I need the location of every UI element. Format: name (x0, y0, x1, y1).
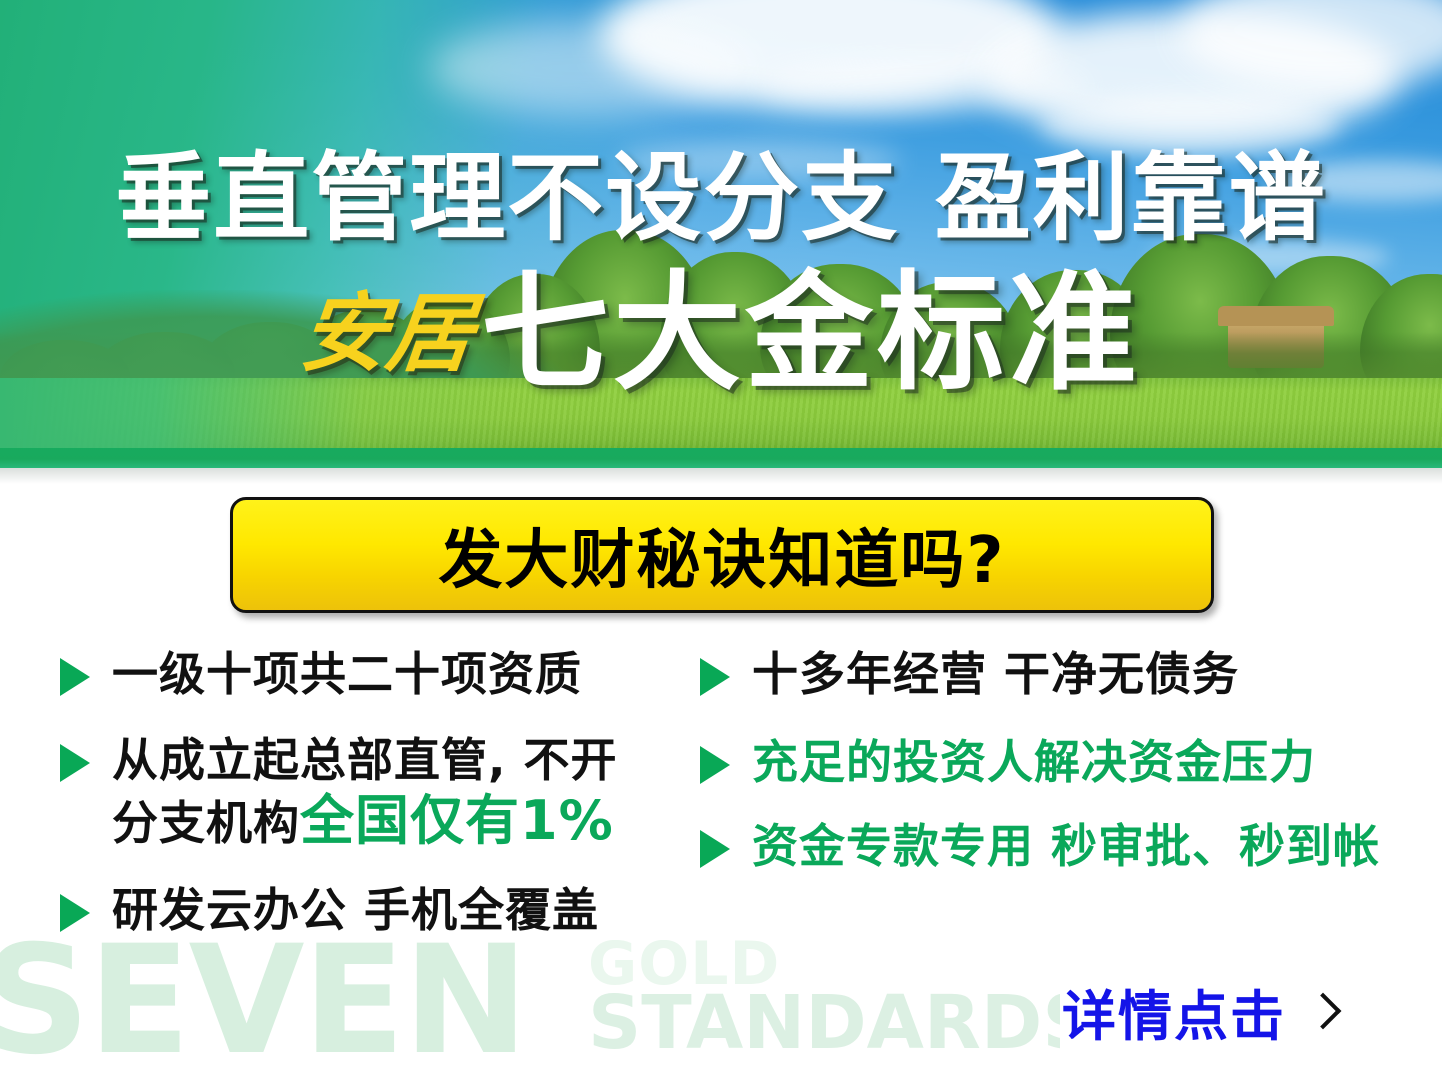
headline-banner-text: 发大财秘诀知道吗? (438, 509, 1005, 601)
feature-item-left-2: 从成立起总部直管, 不开 分支机构全国仅有1% (60, 732, 700, 854)
features-section: 一级十项共二十项资质 从成立起总部直管, 不开 分支机构全国仅有1% 研发云办公… (0, 640, 1442, 1000)
feature-text-right-1: 十多年经营 干净无债务 (752, 646, 1239, 702)
feature-item-right-1: 十多年经营 干净无债务 (700, 646, 1420, 702)
feature-item-left-3: 研发云办公 手机全覆盖 (60, 882, 700, 938)
hero-banner: 垂直管理不设分支 盈利靠谱 安居七大金标准 (0, 0, 1442, 468)
feature-item-right-3: 资金专款专用 秒审批、秒到帐 (700, 818, 1420, 874)
features-column-left: 一级十项共二十项资质 从成立起总部直管, 不开 分支机构全国仅有1% 研发云办公… (60, 640, 700, 952)
cloud-shape (760, 60, 1090, 112)
hero-subheadline: 安居七大金标准 (0, 270, 1442, 398)
details-cta-button[interactable]: 详情点击 (1062, 972, 1332, 1051)
feature-text-left-2: 从成立起总部直管, 不开 分支机构全国仅有1% (112, 732, 618, 854)
feature-text-left-3: 研发云办公 手机全覆盖 (112, 882, 599, 938)
hero-subheadline-white: 七大金标准 (481, 270, 1141, 398)
feature-text-right-3: 资金专款专用 秒审批、秒到帐 (752, 818, 1380, 874)
feature-item-left-1: 一级十项共二十项资质 (60, 646, 700, 702)
triangle-bullet-icon (60, 658, 90, 696)
hero-headline: 垂直管理不设分支 盈利靠谱 (0, 120, 1442, 259)
triangle-bullet-icon (700, 746, 730, 784)
triangle-bullet-icon (700, 830, 730, 868)
details-cta-label: 详情点击 (1062, 972, 1286, 1051)
headline-banner[interactable]: 发大财秘诀知道吗? (230, 497, 1214, 613)
hero-bottom-strip (0, 448, 1442, 468)
hero-subheadline-gold: 安居 (296, 291, 477, 377)
feature-text-left-2-highlight: 全国仅有1% (300, 789, 614, 852)
triangle-bullet-icon (60, 894, 90, 932)
hero-dropshadow (0, 468, 1442, 484)
feature-text-left-2-line1: 从成立起总部直管, 不开 (112, 733, 618, 787)
cloud-shape (430, 20, 750, 116)
triangle-bullet-icon (700, 658, 730, 696)
triangle-bullet-icon (60, 744, 90, 782)
chevron-right-icon (1308, 992, 1332, 1032)
features-column-right: 十多年经营 干净无债务 充足的投资人解决资金压力 资金专款专用 秒审批、秒到帐 (700, 640, 1420, 888)
feature-item-right-2: 充足的投资人解决资金压力 (700, 734, 1420, 790)
feature-text-left-2-line2-prefix: 分支机构 (112, 796, 300, 850)
feature-text-right-2: 充足的投资人解决资金压力 (752, 734, 1316, 790)
feature-text-left-1: 一级十项共二十项资质 (112, 646, 582, 702)
